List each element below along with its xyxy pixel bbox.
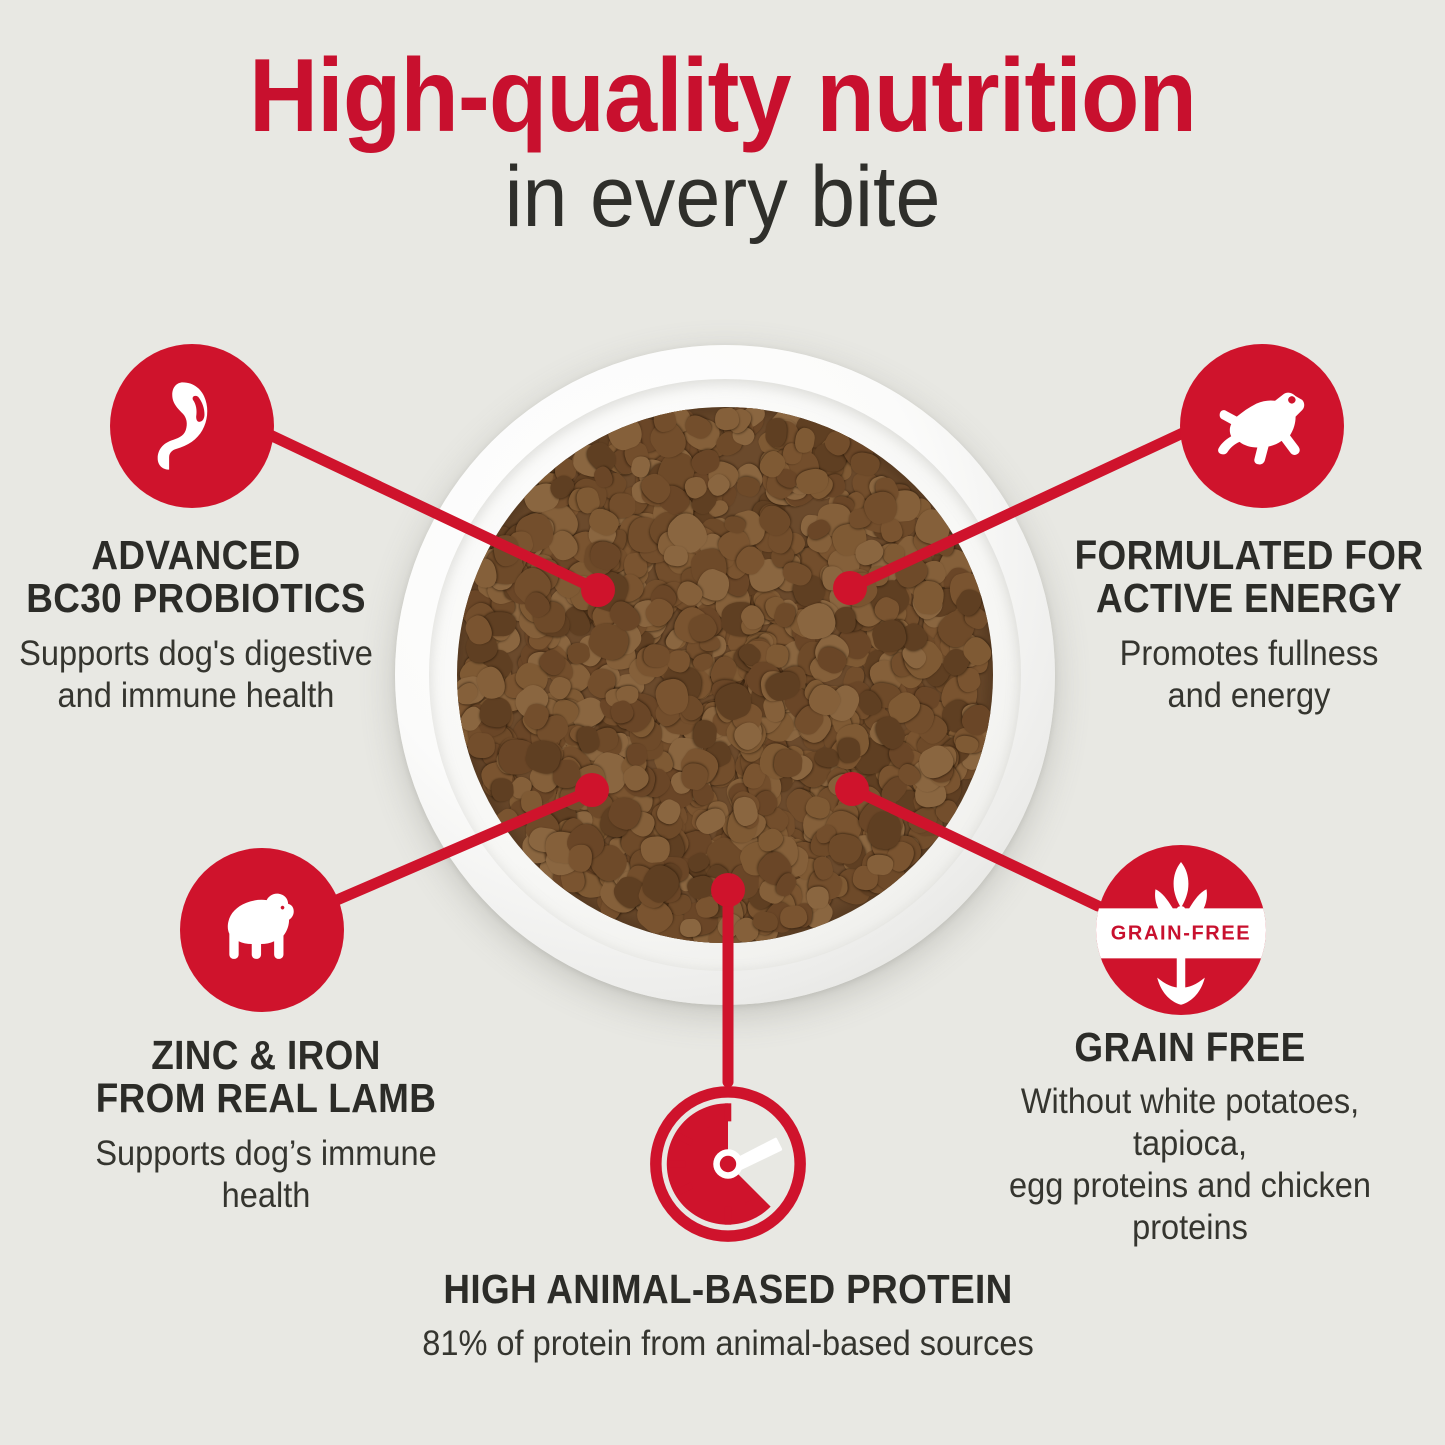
gauge-icon: [646, 1082, 810, 1246]
feature-protein-text: HIGH ANIMAL-BASED PROTEIN 81% of protein…: [378, 1268, 1078, 1365]
feature-lamb-desc: Supports dog’s immune health: [74, 1133, 457, 1217]
page-title: High-quality nutrition in every bite: [0, 44, 1445, 240]
feature-grain-free-text: GRAIN FREE Without white potatoes, tapio…: [955, 1026, 1425, 1249]
feature-protein-title: HIGH ANIMAL-BASED PROTEIN: [413, 1268, 1043, 1311]
feature-active-energy-title: FORMULATED FOR ACTIVE ENERGY: [1073, 534, 1426, 621]
kibble-area: [457, 407, 993, 943]
feature-grain-free-desc: Without white potatoes, tapioca, egg pro…: [971, 1081, 1408, 1249]
feature-lamb-title: ZINC & IRON FROM REAL LAMB: [81, 1034, 452, 1121]
callout-dot-grain-free: [835, 772, 869, 806]
feature-probiotics-text: ADVANCED BC30 PROBIOTICS Supports dog's …: [0, 534, 392, 717]
infographic-canvas: High-quality nutrition in every bite ADV…: [0, 0, 1445, 1445]
stomach-icon: [110, 344, 274, 508]
feature-lamb-text: ZINC & IRON FROM REAL LAMB Supports dog’…: [60, 1034, 472, 1217]
feature-active-energy-text: FORMULATED FOR ACTIVE ENERGY Promotes fu…: [1053, 534, 1445, 717]
headline-line-2: in every bite: [43, 154, 1401, 240]
kibble-pieces: [457, 407, 993, 943]
feature-grain-free-title: GRAIN FREE: [979, 1026, 1402, 1069]
callout-dot-lamb: [575, 773, 609, 807]
feature-active-energy-desc: Promotes fullness and energy: [1067, 633, 1432, 717]
grain-free-badge-band: GRAIN-FREE: [1096, 909, 1266, 958]
jumping-dog-icon: [1180, 344, 1344, 508]
feature-protein-desc: 81% of protein from animal-based sources: [403, 1323, 1054, 1365]
headline-line-1: High-quality nutrition: [58, 44, 1387, 148]
grain-free-badge-label: GRAIN-FREE: [1111, 922, 1251, 945]
feature-probiotics-desc: Supports dog's digestive and immune heal…: [14, 633, 379, 717]
callout-dot-active-energy: [833, 571, 867, 605]
lamb-icon: [180, 848, 344, 1012]
feature-probiotics-title: ADVANCED BC30 PROBIOTICS: [20, 534, 373, 621]
callout-dot-protein: [711, 873, 745, 907]
wheat-grain-free-icon: GRAIN-FREE: [1096, 845, 1266, 1015]
callout-dot-probiotics: [581, 573, 615, 607]
